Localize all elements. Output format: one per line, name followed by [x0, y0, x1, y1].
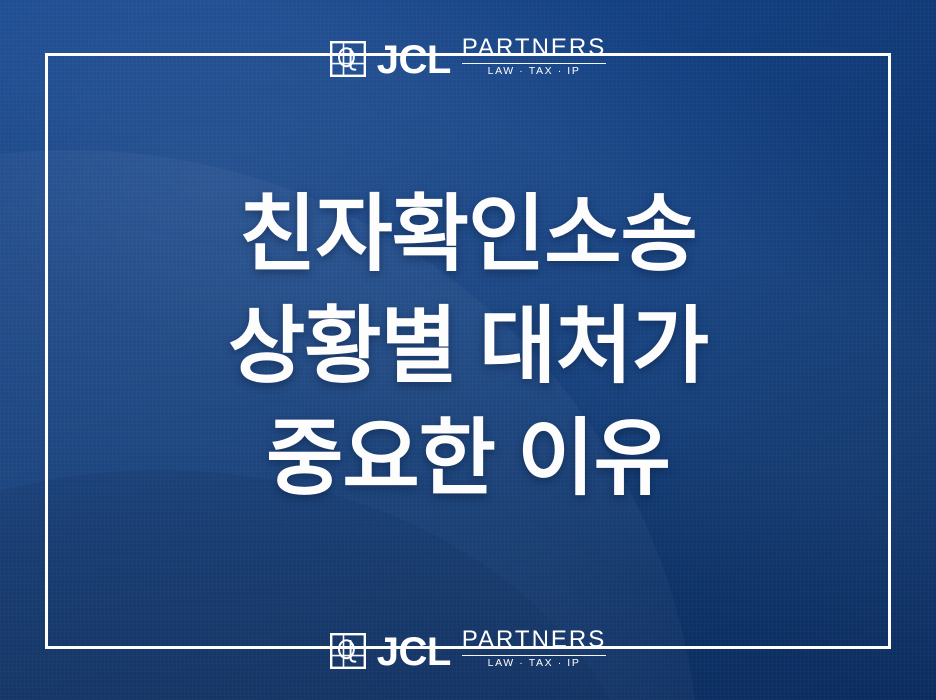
headline-line-3: 중요한 이유 [0, 402, 936, 514]
logo-divider-rule [462, 655, 606, 656]
logo-lockup-top: JCL PARTNERS LAW · TAX · IP [0, 38, 936, 80]
logo-divider-rule [462, 63, 606, 64]
logo-partners-text: PARTNERS [462, 36, 606, 60]
logo-tagline: LAW · TAX · IP [462, 66, 606, 78]
logo-partners-block: PARTNERS LAW · TAX · IP [462, 36, 606, 78]
promo-card: JCL PARTNERS LAW · TAX · IP 친자확인소송 상황별 대… [0, 0, 936, 700]
headline: 친자확인소송 상황별 대처가 중요한 이유 [0, 178, 936, 514]
logo-partners-block: PARTNERS LAW · TAX · IP [462, 628, 606, 670]
logo-wordmark: JCL [377, 632, 451, 672]
logo-partners-text: PARTNERS [462, 628, 606, 652]
headline-line-1: 친자확인소송 [0, 178, 936, 290]
jcl-monogram-square-icon [330, 41, 366, 77]
logo-tagline: LAW · TAX · IP [462, 658, 606, 670]
logo-wordmark: JCL [377, 40, 451, 80]
headline-line-2: 상황별 대처가 [0, 290, 936, 402]
jcl-monogram-square-icon [330, 633, 366, 669]
logo-lockup-bottom: JCL PARTNERS LAW · TAX · IP [0, 630, 936, 672]
